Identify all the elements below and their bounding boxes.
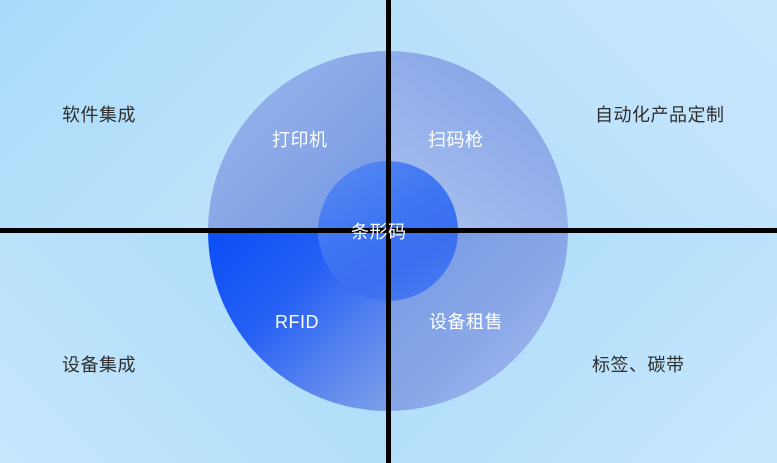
core-label-barcode: 条形码 xyxy=(351,223,407,241)
quadrant-label-rental: 设备租售 xyxy=(429,313,503,331)
corner-label-software-integration: 软件集成 xyxy=(62,106,136,124)
corner-label-automation-product-customization: 自动化产品定制 xyxy=(595,106,725,124)
quadrant-label-rfid: RFID xyxy=(275,313,319,331)
corner-label-labels-ribbons: 标签、碳带 xyxy=(592,356,685,374)
diagram-canvas: 打印机 扫码枪 RFID 设备租售 条形码 软件集成 自动化产品定制 设备集成 … xyxy=(0,0,777,463)
corner-label-device-integration: 设备集成 xyxy=(62,356,136,374)
quadrant-label-scanner: 扫码枪 xyxy=(428,131,484,149)
quadrant-label-printer: 打印机 xyxy=(272,131,328,149)
